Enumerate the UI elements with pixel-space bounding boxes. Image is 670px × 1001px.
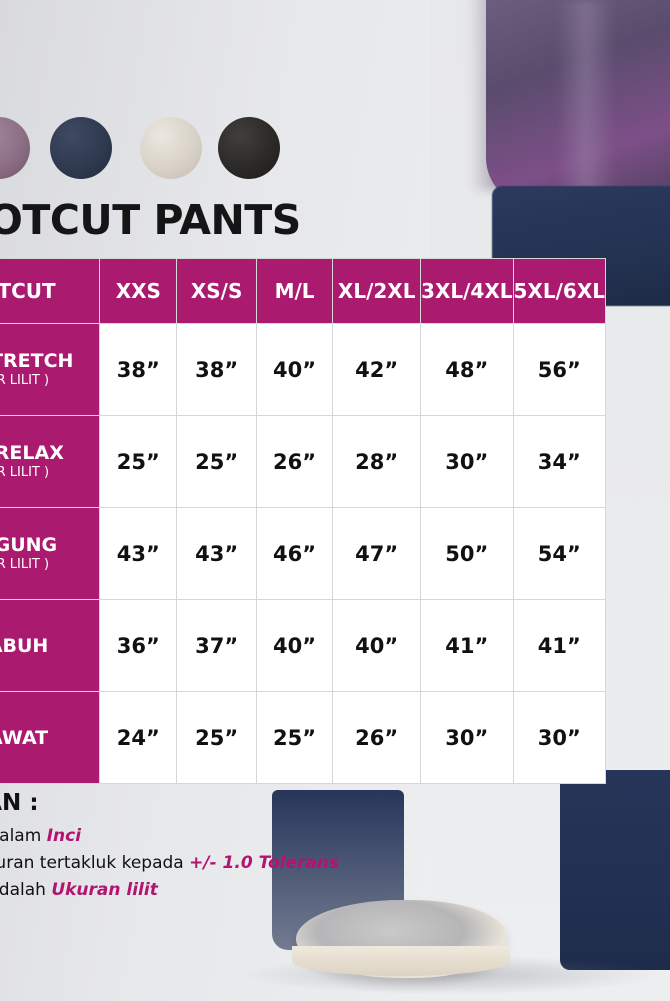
cell-value: 56” <box>513 324 606 416</box>
row-label-relax: H RELAX UR LILIT ) <box>0 416 100 508</box>
cell-value: 37” <box>177 600 256 692</box>
row-label-primary: AWAT <box>0 727 99 749</box>
cell-value: 36” <box>100 600 177 692</box>
notes-title: ATIAN : <box>0 790 339 816</box>
note-line: uran dalam Inci <box>0 823 339 850</box>
table-header-row: OTCUT XXS XS/S M/L XL/2XL 3XL/4XL 5XL/6X… <box>0 259 606 324</box>
shirt-fold-highlight <box>556 0 616 200</box>
note-line: iap ukuran tertakluk kepada +/- 1.0 Tole… <box>0 850 339 877</box>
row-label-secondary: UR LILIT ) <box>0 556 99 574</box>
cell-value: 30” <box>513 692 606 784</box>
cell-value: 25” <box>177 692 256 784</box>
table-row: I STRETCH UR LILIT ) 38” 38” 40” 42” 48”… <box>0 324 606 416</box>
note-line: uran adalah Ukuran lilit <box>0 877 339 904</box>
header-cell-xxs: XXS <box>100 259 177 324</box>
cell-value: 34” <box>513 416 606 508</box>
cell-value: 38” <box>100 324 177 416</box>
cell-value: 25” <box>256 692 333 784</box>
cell-value: 26” <box>256 416 333 508</box>
row-label-hip: GGUNG UR LILIT ) <box>0 508 100 600</box>
cell-value: 43” <box>177 508 256 600</box>
row-label-stretch: I STRETCH UR LILIT ) <box>0 324 100 416</box>
swatch-black <box>218 117 280 179</box>
cell-value: 24” <box>100 692 177 784</box>
row-label-primary: I STRETCH <box>0 350 99 372</box>
notes-section: ATIAN : uran dalam Inci iap ukuran terta… <box>0 790 339 904</box>
cell-value: 40” <box>333 600 421 692</box>
row-label-secondary: UR LILIT ) <box>0 372 99 390</box>
table-row: H RELAX UR LILIT ) 25” 25” 26” 28” 30” 3… <box>0 416 606 508</box>
cell-value: 25” <box>177 416 256 508</box>
row-label-primary: ABUH <box>0 635 99 657</box>
cell-value: 47” <box>333 508 421 600</box>
cell-value: 46” <box>256 508 333 600</box>
cell-value: 30” <box>421 416 513 508</box>
model-shoe-sole <box>292 946 510 976</box>
swatch-cream <box>140 117 202 179</box>
header-cell-xs-s: XS/S <box>177 259 256 324</box>
header-cell-3xl-4xl: 3XL/4XL <box>421 259 513 324</box>
cell-value: 40” <box>256 600 333 692</box>
cell-value: 41” <box>421 600 513 692</box>
row-label-primary: GGUNG <box>0 534 99 556</box>
row-label-primary: H RELAX <box>0 442 99 464</box>
note-accent: Inci <box>47 826 81 846</box>
cell-value: 38” <box>177 324 256 416</box>
cell-value: 40” <box>256 324 333 416</box>
note-accent: +/- 1.0 Tolerans <box>189 853 339 873</box>
cell-value: 50” <box>421 508 513 600</box>
note-text: uran dalam <box>0 826 47 846</box>
header-cell-xl-2xl: XL/2XL <box>333 259 421 324</box>
row-label-hem: AWAT <box>0 692 100 784</box>
model-leg-right <box>560 770 670 970</box>
header-cell-5xl-6xl: 5XL/6XL <box>513 259 606 324</box>
cell-value: 54” <box>513 508 606 600</box>
table-row: AWAT 24” 25” 25” 26” 30” 30” <box>0 692 606 784</box>
header-cell-category: OTCUT <box>0 259 100 324</box>
page-title: OTCUT PANTS <box>0 196 301 244</box>
row-label-secondary: UR LILIT ) <box>0 464 99 482</box>
cell-value: 26” <box>333 692 421 784</box>
cell-value: 43” <box>100 508 177 600</box>
cell-value: 41” <box>513 600 606 692</box>
swatch-navy <box>50 117 112 179</box>
note-text: iap ukuran tertakluk kepada <box>0 853 189 873</box>
note-accent: Ukuran lilit <box>51 880 158 900</box>
cell-value: 25” <box>100 416 177 508</box>
size-chart-table: OTCUT XXS XS/S M/L XL/2XL 3XL/4XL 5XL/6X… <box>0 258 606 784</box>
cell-value: 28” <box>333 416 421 508</box>
row-label-length: ABUH <box>0 600 100 692</box>
table-row: GGUNG UR LILIT ) 43” 43” 46” 47” 50” 54” <box>0 508 606 600</box>
cell-value: 30” <box>421 692 513 784</box>
note-text: uran adalah <box>0 880 51 900</box>
cell-value: 48” <box>421 324 513 416</box>
table-row: ABUH 36” 37” 40” 40” 41” 41” <box>0 600 606 692</box>
header-cell-m-l: M/L <box>256 259 333 324</box>
cell-value: 42” <box>333 324 421 416</box>
